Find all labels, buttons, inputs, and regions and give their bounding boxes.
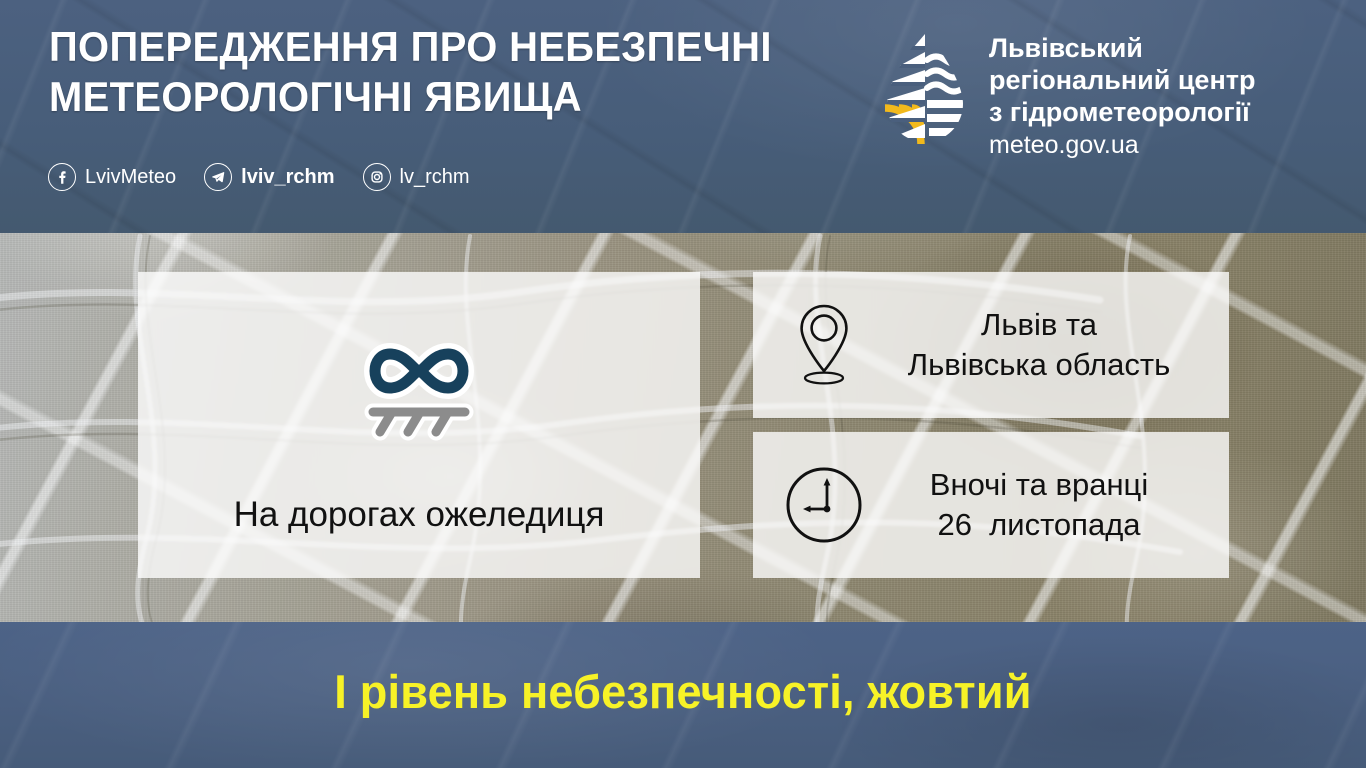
social-links: LvivMeteo lviv_rchm lv_rchm [48, 163, 498, 191]
phenomenon-label: На дорогах ожеледиця [234, 494, 605, 536]
telegram-icon [204, 163, 232, 191]
brand-text-block: Львівський регіональний центр з гідромет… [989, 26, 1255, 160]
title-line-1: ПОПЕРЕДЖЕННЯ ПРО НЕБЕЗПЕЧНІ [49, 22, 828, 72]
time-line-2: 26 листопада [937, 507, 1140, 542]
clock-icon [781, 464, 867, 546]
danger-level-text: І рівень небезпечності, жовтий [27, 664, 1338, 720]
area-line-2: Львівська область [908, 347, 1171, 382]
instagram-icon [363, 163, 391, 191]
brand-logo: Львівський регіональний центр з гідромет… [877, 26, 1255, 160]
map-pin-icon [781, 299, 867, 391]
title-line-2: МЕТЕОРОЛОГІЧНІ ЯВИЩА [49, 72, 828, 122]
time-line-1: Вночі та вранці [930, 467, 1148, 502]
brand-line-3: з гідрометеорології [989, 96, 1255, 128]
black-ice-road-icon [344, 332, 494, 452]
page-title: ПОПЕРЕДЖЕННЯ ПРО НЕБЕЗПЕЧНІ МЕТЕОРОЛОГІЧ… [49, 22, 869, 122]
time-text: Вночі та вранці26 листопада [867, 465, 1229, 545]
area-panel: Львів таЛьвівська область [753, 272, 1229, 418]
brand-line-1: Львівський [989, 32, 1255, 64]
social-handle-facebook: LvivMeteo [85, 166, 176, 188]
area-line-1: Львів та [981, 307, 1097, 342]
brand-website[interactable]: meteo.gov.ua [989, 130, 1255, 160]
social-handle-telegram: lviv_rchm [241, 166, 334, 188]
social-link-telegram[interactable]: lviv_rchm [204, 163, 334, 191]
social-handle-instagram: lv_rchm [400, 166, 470, 188]
area-text: Львів таЛьвівська область [867, 305, 1229, 385]
brand-line-2: регіональний центр [989, 64, 1255, 96]
social-link-facebook[interactable]: LvivMeteo [48, 163, 176, 191]
facebook-icon [48, 163, 76, 191]
weather-warning-infographic: ПОПЕРЕДЖЕННЯ ПРО НЕБЕЗПЕЧНІ МЕТЕОРОЛОГІЧ… [0, 0, 1366, 768]
social-link-instagram[interactable]: lv_rchm [363, 163, 470, 191]
time-panel: Вночі та вранці26 листопада [753, 432, 1229, 578]
water-droplet-logo [877, 26, 973, 152]
phenomenon-panel: На дорогах ожеледиця [138, 272, 700, 578]
